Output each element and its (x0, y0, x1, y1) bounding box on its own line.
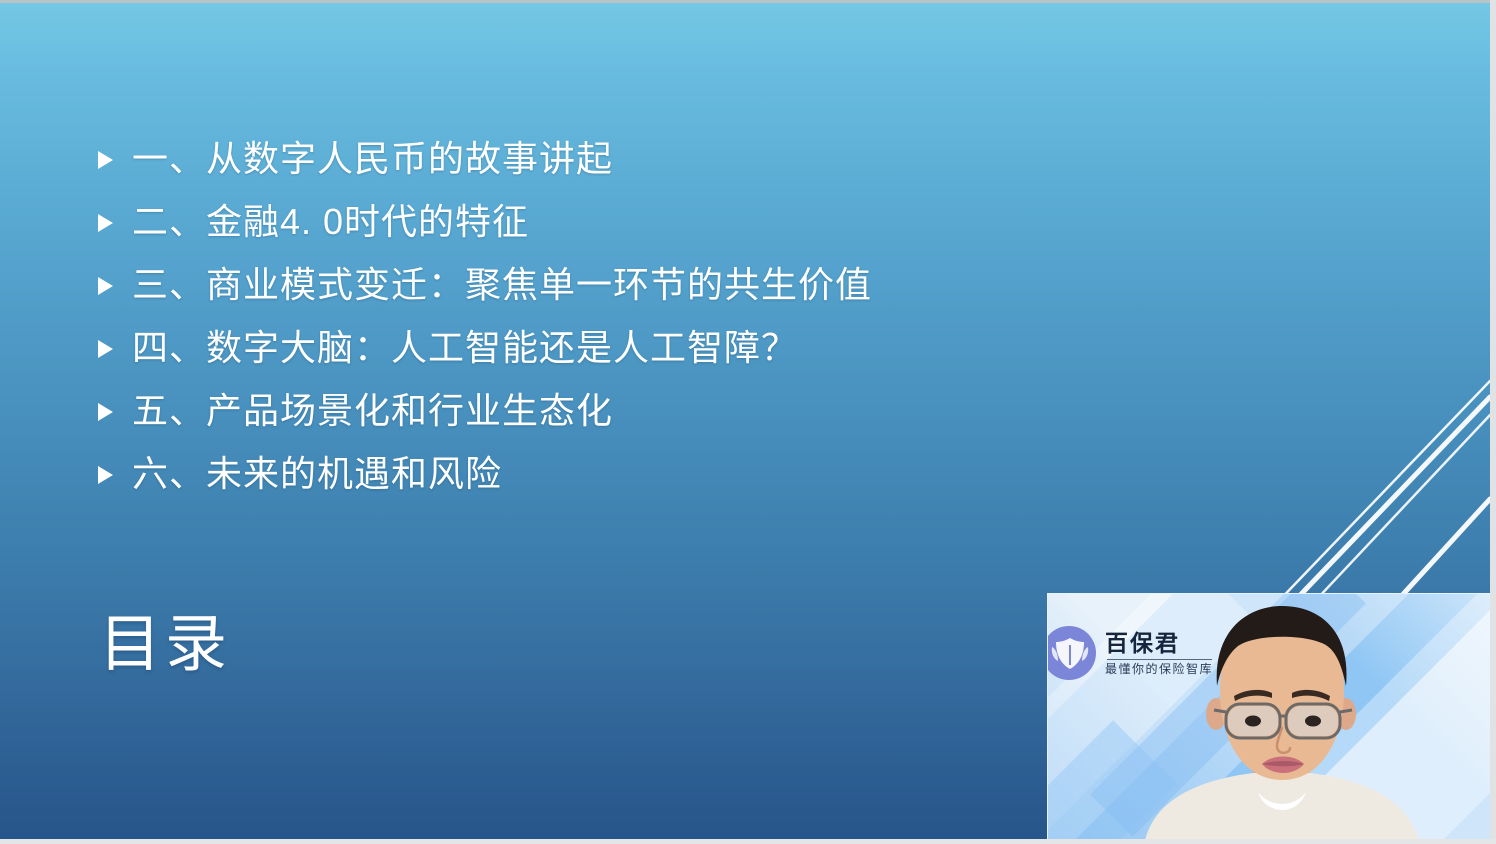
triangle-right-icon (98, 149, 124, 169)
list-item[interactable]: 五、产品场景化和行业生态化 (98, 379, 1038, 442)
shield-wings-icon (1047, 626, 1096, 680)
window-top-edge (0, 0, 1496, 3)
list-item-label: 六、未来的机遇和风险 (132, 454, 502, 494)
brand-divider (1107, 659, 1212, 660)
brand-logo-text: 百保君 最懂你的保险智库 (1105, 630, 1213, 677)
toc-list: 一、从数字人民币的故事讲起 二、金融4. 0时代的特征 三、商业模式变迁：聚焦单… (98, 127, 1038, 505)
brand-tagline: 最懂你的保险智库 (1105, 662, 1213, 676)
list-item[interactable]: 四、数字大脑：人工智能还是人工智障？ (98, 316, 1038, 379)
page-title: 目录 (99, 611, 231, 679)
triangle-right-icon (98, 275, 124, 295)
list-item[interactable]: 一、从数字人民币的故事讲起 (98, 127, 1038, 190)
slide-root: 一、从数字人民币的故事讲起 二、金融4. 0时代的特征 三、商业模式变迁：聚焦单… (0, 0, 1496, 844)
triangle-right-icon (98, 401, 124, 421)
window-right-edge (1490, 0, 1496, 844)
list-item-label: 二、金融4. 0时代的特征 (132, 202, 529, 242)
presenter-video-overlay[interactable]: 百保君 最懂你的保险智库 (1047, 593, 1491, 844)
list-item-label: 五、产品场景化和行业生态化 (132, 391, 613, 431)
triangle-right-icon (98, 338, 124, 358)
triangle-right-icon (98, 212, 124, 232)
triangle-right-icon (98, 464, 124, 484)
list-item-label: 三、商业模式变迁：聚焦单一环节的共生价值 (132, 265, 872, 305)
list-item[interactable]: 二、金融4. 0时代的特征 (98, 190, 1038, 253)
list-item-label: 四、数字大脑：人工智能还是人工智障？ (132, 328, 798, 368)
brand-logo: 百保君 最懂你的保险智库 (1047, 626, 1213, 680)
brand-name: 百保君 (1105, 630, 1213, 656)
list-item[interactable]: 六、未来的机遇和风险 (98, 442, 1038, 505)
window-bottom-edge (0, 839, 1496, 844)
list-item[interactable]: 三、商业模式变迁：聚焦单一环节的共生价值 (98, 253, 1038, 316)
list-item-label: 一、从数字人民币的故事讲起 (132, 139, 613, 179)
